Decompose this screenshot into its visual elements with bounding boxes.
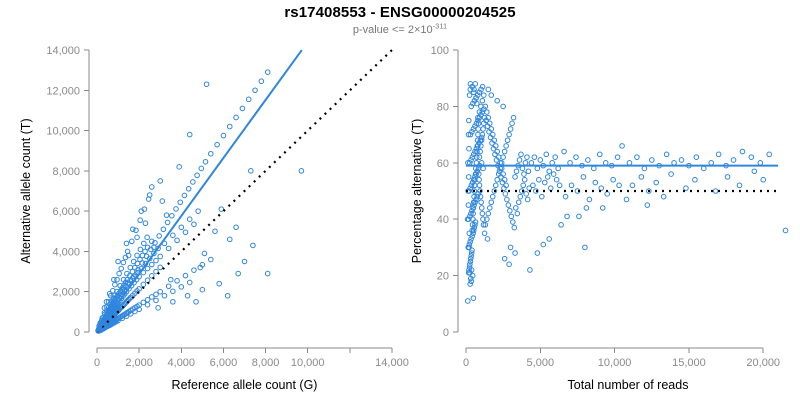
x-tick-label: 20,000 xyxy=(746,357,780,369)
data-point xyxy=(603,161,608,166)
data-point xyxy=(227,124,232,129)
data-point xyxy=(171,299,176,304)
data-point xyxy=(145,235,150,240)
data-point xyxy=(568,161,573,166)
x-tick-label: 0 xyxy=(94,357,100,369)
data-point xyxy=(124,241,129,246)
data-point xyxy=(165,220,170,225)
data-point xyxy=(158,179,163,184)
data-point xyxy=(529,161,534,166)
data-point xyxy=(141,241,146,246)
data-point xyxy=(538,158,543,163)
plots-svg: 02,0004,0006,0008,00010,00012,00014,0000… xyxy=(0,0,800,400)
data-point xyxy=(645,203,650,208)
data-point xyxy=(553,155,558,160)
x-axis-title: Reference allele count (G) xyxy=(172,378,318,392)
data-point xyxy=(242,259,247,264)
data-point xyxy=(192,222,197,227)
data-point xyxy=(518,194,523,199)
data-point xyxy=(156,306,161,311)
data-point xyxy=(531,183,536,188)
data-point xyxy=(208,151,213,156)
data-point xyxy=(515,211,520,216)
data-point xyxy=(574,155,579,160)
data-point xyxy=(145,303,150,308)
y-tick-label: 10,000 xyxy=(46,126,80,138)
data-point xyxy=(501,104,506,109)
data-point xyxy=(559,223,564,228)
data-point xyxy=(486,87,491,92)
data-point xyxy=(129,239,134,244)
data-point xyxy=(168,277,173,282)
data-point xyxy=(135,253,140,258)
data-point xyxy=(569,183,574,188)
data-point xyxy=(179,225,184,230)
data-point xyxy=(630,183,635,188)
data-point xyxy=(639,175,644,180)
data-point xyxy=(183,230,188,235)
data-point xyxy=(524,192,529,197)
data-point xyxy=(162,293,167,298)
data-point xyxy=(192,268,197,273)
data-point xyxy=(161,227,166,232)
data-point xyxy=(489,200,494,205)
data-point xyxy=(542,180,547,185)
data-point xyxy=(204,82,209,87)
data-point xyxy=(547,169,552,174)
y-tick-label: 60 xyxy=(437,158,449,170)
data-point xyxy=(171,233,176,238)
data-point xyxy=(215,142,220,147)
data-point xyxy=(158,289,163,294)
data-point xyxy=(474,161,479,166)
data-point xyxy=(178,200,183,205)
data-point xyxy=(465,299,470,304)
data-point xyxy=(116,259,121,264)
data-point xyxy=(476,127,481,132)
data-point xyxy=(672,161,677,166)
y-axis-left: 02,0004,0006,0008,00010,00012,00014,000 xyxy=(46,45,89,339)
data-point xyxy=(649,158,654,163)
data-point xyxy=(131,259,136,264)
data-point xyxy=(149,185,154,190)
data-point xyxy=(503,192,508,197)
data-point xyxy=(737,183,742,188)
data-point xyxy=(516,200,521,205)
data-point xyxy=(513,175,518,180)
data-point xyxy=(466,203,471,208)
data-point xyxy=(600,206,605,211)
data-point xyxy=(611,177,616,182)
data-point xyxy=(528,268,533,273)
data-point xyxy=(504,144,509,149)
data-point xyxy=(523,161,528,166)
data-point xyxy=(170,213,175,218)
data-point xyxy=(477,183,482,188)
data-point xyxy=(522,177,527,182)
panel-right: 02040608010005,00010,00015,00020,000Tota… xyxy=(410,45,788,392)
y-tick-label: 0 xyxy=(443,327,449,339)
data-point xyxy=(471,90,476,95)
data-point xyxy=(468,282,473,287)
data-point xyxy=(627,161,632,166)
data-point xyxy=(138,247,143,252)
data-point xyxy=(481,166,486,171)
data-point xyxy=(586,158,591,163)
data-point xyxy=(525,155,530,160)
data-point xyxy=(502,149,507,154)
data-point xyxy=(135,235,140,240)
data-point xyxy=(547,237,552,242)
x-tick-label: 14,000 xyxy=(375,357,409,369)
data-point xyxy=(505,197,510,202)
data-point xyxy=(587,197,592,202)
data-point xyxy=(506,203,511,208)
data-point xyxy=(509,214,514,219)
data-point xyxy=(511,115,516,120)
data-point xyxy=(702,166,707,171)
data-point xyxy=(615,155,620,160)
data-point xyxy=(143,221,148,226)
data-point xyxy=(117,271,122,276)
data-point xyxy=(487,206,492,211)
data-point xyxy=(584,206,589,211)
data-point xyxy=(642,166,647,171)
scatter-points xyxy=(96,70,304,333)
x-tick-label: 10,000 xyxy=(598,357,632,369)
data-point xyxy=(532,155,537,160)
data-point xyxy=(246,97,251,102)
data-point xyxy=(517,158,522,163)
data-point xyxy=(684,186,689,191)
data-point xyxy=(767,152,772,157)
data-point xyxy=(221,133,226,138)
data-point xyxy=(265,70,270,75)
data-point xyxy=(562,149,567,154)
data-point xyxy=(113,282,118,287)
x-tick-label: 8,000 xyxy=(252,357,280,369)
data-point xyxy=(661,194,666,199)
data-point xyxy=(521,183,526,188)
figure-root: rs17408553 - ENSG00000204525 p-value <= … xyxy=(0,0,800,400)
data-point xyxy=(599,186,604,191)
data-point xyxy=(512,225,517,230)
data-point xyxy=(725,175,730,180)
data-point xyxy=(299,169,304,174)
data-point xyxy=(551,172,556,177)
data-point xyxy=(501,155,506,160)
data-point xyxy=(716,152,721,157)
data-point xyxy=(199,166,204,171)
data-point xyxy=(544,152,549,157)
data-point xyxy=(145,278,150,283)
data-point xyxy=(208,257,213,262)
data-point xyxy=(480,98,485,103)
data-point xyxy=(554,177,559,182)
data-point xyxy=(476,132,481,137)
y-axis-title: Alternative allele count (T) xyxy=(19,118,33,263)
y-tick-label: 80 xyxy=(437,101,449,113)
data-point xyxy=(545,175,550,180)
data-point xyxy=(526,169,531,174)
data-point xyxy=(187,280,192,285)
data-point xyxy=(508,208,513,213)
data-point xyxy=(186,186,191,191)
data-point xyxy=(200,287,205,292)
data-point xyxy=(128,265,133,270)
scatter-points xyxy=(465,82,788,304)
data-point xyxy=(479,206,484,211)
data-point xyxy=(522,172,527,177)
y-tick-label: 14,000 xyxy=(46,45,80,57)
data-point xyxy=(485,237,490,242)
y-tick-label: 2,000 xyxy=(52,287,80,299)
data-point xyxy=(191,180,196,185)
data-point xyxy=(495,98,500,103)
data-point xyxy=(265,271,270,276)
data-point xyxy=(565,214,570,219)
data-point xyxy=(175,238,180,243)
x-axis-title: Total number of reads xyxy=(568,378,689,392)
data-point xyxy=(731,158,736,163)
data-point xyxy=(535,251,540,256)
data-point xyxy=(761,177,766,182)
data-point xyxy=(489,93,494,98)
data-point xyxy=(513,251,518,256)
data-point xyxy=(511,220,516,225)
data-point xyxy=(520,166,525,171)
panel-left: 02,0004,0006,0008,00010,00012,00014,0000… xyxy=(19,45,409,392)
y-tick-label: 0 xyxy=(74,327,80,339)
data-point xyxy=(490,194,495,199)
x-tick-label: 2,000 xyxy=(125,357,153,369)
data-point xyxy=(166,284,171,289)
data-point xyxy=(175,279,180,284)
data-point xyxy=(480,211,485,216)
y-tick-label: 40 xyxy=(437,214,449,226)
data-point xyxy=(467,146,472,151)
data-point xyxy=(145,297,150,302)
data-point xyxy=(620,144,625,149)
data-point xyxy=(550,161,555,166)
data-point xyxy=(471,296,476,301)
data-point xyxy=(557,183,562,188)
data-layer-right xyxy=(465,82,788,304)
y-tick-label: 100 xyxy=(431,45,449,57)
x-tick-label: 5,000 xyxy=(527,357,555,369)
data-point xyxy=(217,281,222,286)
data-point xyxy=(513,206,518,211)
data-point xyxy=(115,277,120,282)
data-point xyxy=(160,199,165,204)
data-point xyxy=(154,298,159,303)
data-point xyxy=(187,132,192,137)
data-point xyxy=(749,155,754,160)
x-tick-label: 10,000 xyxy=(291,357,325,369)
data-point xyxy=(507,132,512,137)
y-tick-label: 8,000 xyxy=(52,166,80,178)
data-point xyxy=(240,106,245,111)
data-point xyxy=(548,186,553,191)
y-tick-label: 6,000 xyxy=(52,206,80,218)
x-tick-label: 0 xyxy=(463,357,469,369)
data-point xyxy=(740,149,745,154)
data-point xyxy=(486,211,491,216)
y-axis-title: Percentage alternative (T) xyxy=(410,119,424,264)
data-point xyxy=(624,197,629,202)
data-point xyxy=(514,169,519,174)
data-point xyxy=(537,177,542,182)
data-point xyxy=(519,152,524,157)
data-point xyxy=(119,266,124,271)
data-point xyxy=(693,177,698,182)
data-point xyxy=(664,152,669,157)
data-point xyxy=(469,237,474,242)
data-point xyxy=(563,194,568,199)
data-point xyxy=(182,193,187,198)
data-point xyxy=(227,237,232,242)
data-point xyxy=(154,258,159,263)
data-point xyxy=(234,115,239,120)
data-point xyxy=(713,189,718,194)
data-point xyxy=(179,285,184,290)
data-point xyxy=(203,159,208,164)
data-point xyxy=(185,293,190,298)
data-point xyxy=(171,289,176,294)
data-point xyxy=(510,121,515,126)
data-point xyxy=(556,166,561,171)
y-axis-right: 020406080100 xyxy=(431,45,458,339)
data-point xyxy=(709,161,714,166)
data-point xyxy=(219,207,224,212)
data-point xyxy=(593,180,598,185)
data-point xyxy=(236,271,241,276)
data-point xyxy=(479,200,484,205)
data-point xyxy=(654,180,659,185)
data-point xyxy=(213,229,218,234)
data-point xyxy=(694,155,699,160)
data-point xyxy=(581,175,586,180)
data-point xyxy=(234,225,239,230)
data-point xyxy=(669,172,674,177)
data-point xyxy=(149,262,154,267)
y-tick-label: 12,000 xyxy=(46,85,80,97)
data-point xyxy=(259,79,264,84)
data-point xyxy=(157,234,162,239)
x-axis-right: 05,00010,00015,00020,000 xyxy=(463,348,780,369)
data-point xyxy=(758,161,763,166)
data-point xyxy=(752,169,757,174)
data-point xyxy=(597,152,602,157)
data-point xyxy=(253,88,258,93)
data-point xyxy=(138,218,143,223)
data-point xyxy=(540,194,545,199)
data-point xyxy=(481,127,486,132)
data-point xyxy=(541,242,546,247)
x-axis-left: 02,0004,0006,0008,00010,00014,000 xyxy=(94,348,409,369)
data-point xyxy=(485,110,490,115)
data-point xyxy=(507,262,512,267)
data-point xyxy=(480,132,485,137)
data-point xyxy=(617,183,622,188)
data-layer-left xyxy=(96,50,392,333)
data-point xyxy=(195,173,200,178)
data-point xyxy=(164,213,169,218)
data-point xyxy=(482,93,487,98)
data-point xyxy=(121,260,126,265)
y-tick-label: 20 xyxy=(437,271,449,283)
data-point xyxy=(525,197,530,202)
fit-line xyxy=(97,50,302,332)
data-point xyxy=(194,299,199,304)
data-point xyxy=(508,245,513,250)
data-point xyxy=(635,155,640,160)
data-point xyxy=(196,209,201,214)
x-tick-label: 15,000 xyxy=(672,357,706,369)
data-point xyxy=(187,217,192,222)
data-point xyxy=(493,183,498,188)
y-tick-label: 4,000 xyxy=(52,246,80,258)
data-point xyxy=(249,169,254,174)
data-point xyxy=(679,158,684,163)
data-point xyxy=(251,243,256,248)
data-point xyxy=(225,293,230,298)
data-point xyxy=(467,118,472,123)
data-point xyxy=(467,93,472,98)
data-point xyxy=(183,273,188,278)
data-point xyxy=(592,166,597,171)
data-point xyxy=(508,127,513,132)
data-point xyxy=(158,265,163,270)
data-point xyxy=(166,246,171,251)
data-point xyxy=(141,282,146,287)
data-point xyxy=(482,231,487,236)
data-point xyxy=(535,166,540,171)
x-tick-label: 6,000 xyxy=(210,357,238,369)
data-point xyxy=(174,207,179,212)
data-point xyxy=(783,228,788,233)
data-point xyxy=(145,266,150,271)
data-point xyxy=(605,192,610,197)
data-point xyxy=(158,254,163,259)
data-point xyxy=(202,251,207,256)
data-point xyxy=(505,138,510,143)
x-tick-label: 4,000 xyxy=(168,357,196,369)
data-point xyxy=(177,165,182,170)
data-point xyxy=(583,245,588,250)
data-point xyxy=(466,175,471,180)
data-point xyxy=(140,261,145,266)
data-point xyxy=(502,256,507,261)
data-point xyxy=(577,214,582,219)
